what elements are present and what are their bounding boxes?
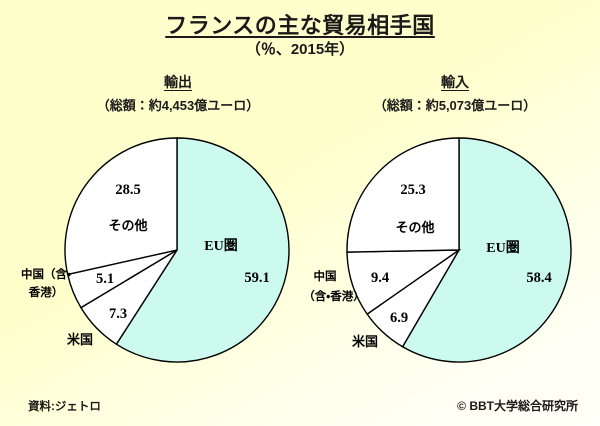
pie-label-china-line1: 中国（含・ — [21, 267, 71, 281]
import-panel-total: （総額：約5,073億ユーロ） — [325, 95, 585, 114]
import-pie-slices — [347, 138, 571, 362]
pie-label-china-line2: （含・香港） — [303, 289, 364, 303]
pie-label-china-line1: 中国 — [314, 269, 337, 283]
export-pie-slices — [65, 138, 289, 362]
import-panel-title: 輸入 — [441, 72, 469, 92]
pie-value-china: 9.4 — [371, 270, 389, 286]
pie-label-other: その他 — [108, 218, 147, 233]
pie-value-other: 25.3 — [400, 182, 425, 198]
pie-label-other: その他 — [395, 220, 434, 235]
export-panel-total: （総額：約4,453億ユーロ） — [48, 95, 308, 114]
chart-page: フランスの主な貿易相手国 （％、2015年） 輸出 （総額：約4,453億ユーロ… — [0, 0, 600, 426]
export-pie-chart: EU圏 59.1 28.5 その他 5.1 中国（含・ 香港） 7.3 米国 — [8, 130, 308, 380]
pie-label-china-line2: 香港） — [28, 285, 64, 299]
pie-label-usa: 米国 — [352, 334, 378, 349]
page-title-text: フランスの主な貿易相手国 — [165, 13, 435, 38]
import-pie-chart: EU圏 58.4 25.3 その他 9.4 中国 （含・香港） 6.9 米国 — [290, 130, 590, 380]
source-note: 資料:ジェトロ — [28, 398, 101, 414]
pie-value-usa: 7.3 — [109, 306, 127, 322]
pie-value-china: 5.1 — [96, 271, 114, 287]
import-pie-svg: EU圏 58.4 25.3 その他 9.4 中国 （含・香港） 6.9 米国 — [290, 130, 590, 380]
pie-value-eu: 58.4 — [526, 270, 551, 286]
pie-value-other: 28.5 — [115, 182, 140, 198]
pie-value-usa: 6.9 — [390, 310, 408, 326]
page-title: フランスの主な貿易相手国 — [0, 8, 600, 40]
pie-value-eu: 59.1 — [244, 270, 269, 286]
export-pie-svg: EU圏 59.1 28.5 その他 5.1 中国（含・ 香港） 7.3 米国 — [8, 130, 308, 380]
export-panel-title: 輸出 — [164, 72, 192, 92]
page-subtitle: （％、2015年） — [0, 38, 600, 59]
import-panel-header: 輸入 （総額：約5,073億ユーロ） — [325, 72, 585, 114]
copyright-note: © BBT大学総合研究所 — [457, 397, 578, 414]
pie-label-usa: 米国 — [67, 332, 93, 347]
export-panel-header: 輸出 （総額：約4,453億ユーロ） — [48, 72, 308, 114]
pie-label-eu: EU圏 — [204, 238, 237, 254]
pie-slice-other — [65, 138, 177, 274]
pie-label-eu: EU圏 — [486, 240, 519, 256]
